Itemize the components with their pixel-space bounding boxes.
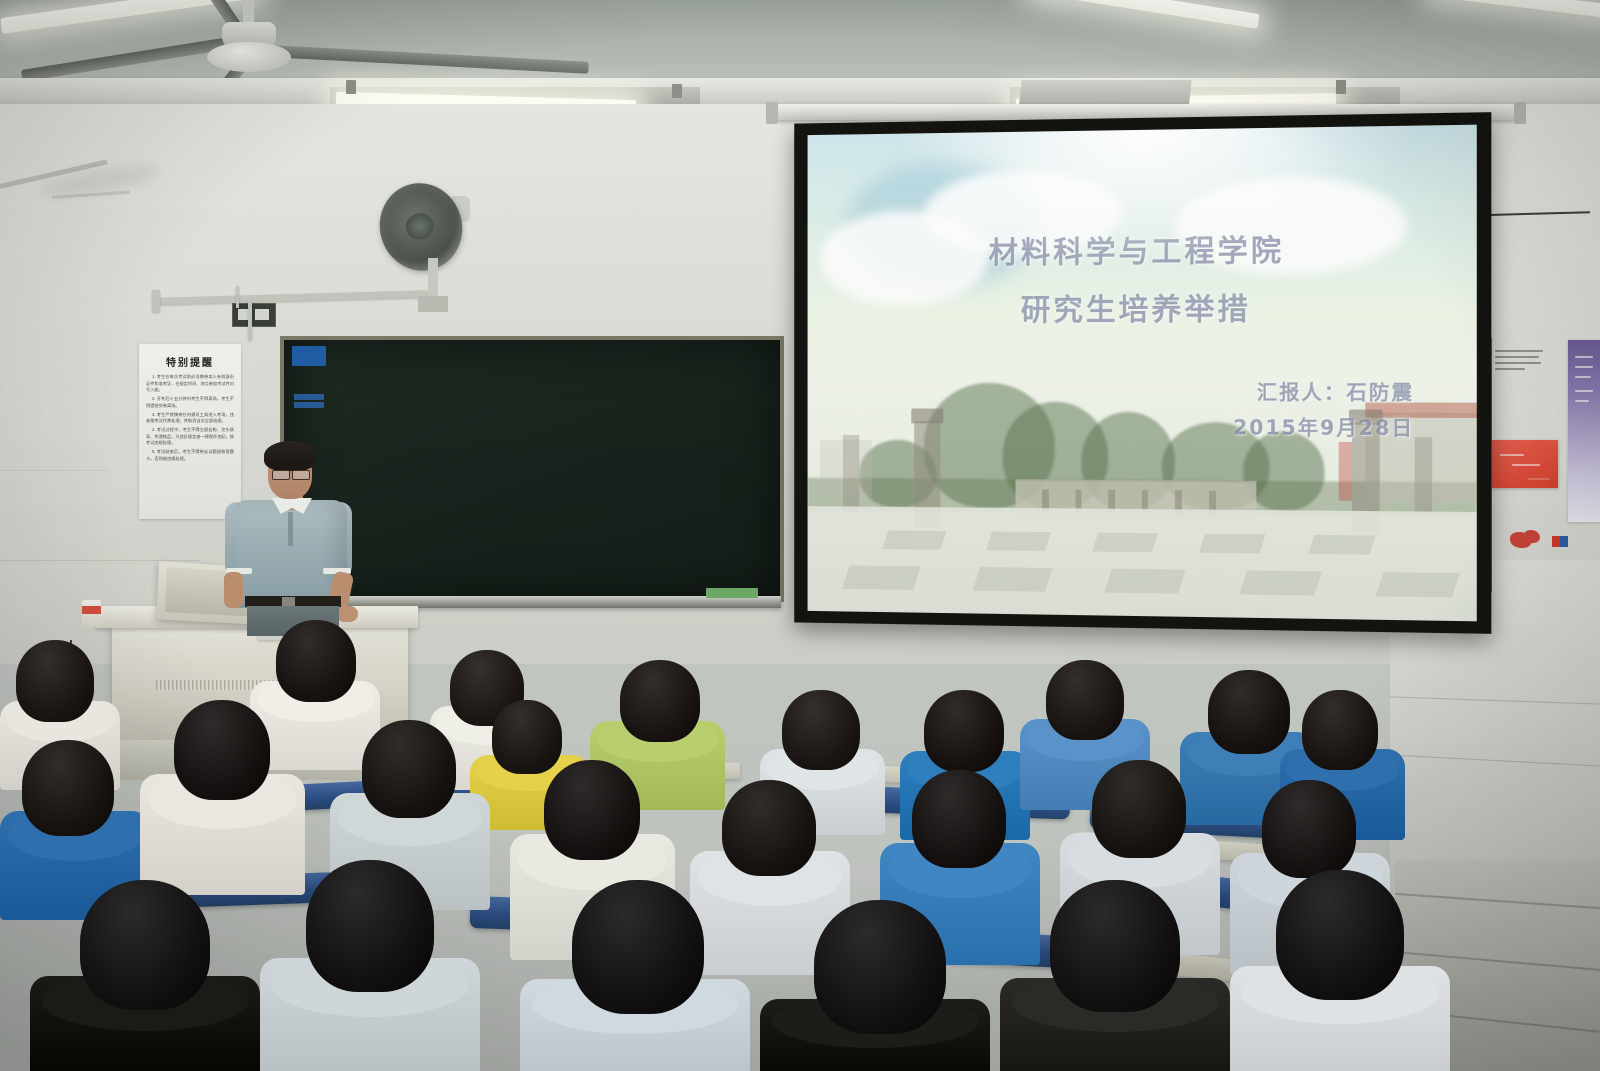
audience-head xyxy=(306,860,434,992)
poster-paragraph: 3. 考生严禁携带任何通讯工具进入考场，违者按考试作弊处理，并取消当次全部成绩。 xyxy=(146,412,234,425)
audience-head xyxy=(1046,660,1124,740)
glasses-icon xyxy=(272,470,290,480)
poster-paragraph: 5. 考试结束后，考生不得带走试题册和答题卡，否则按违规处理。 xyxy=(146,449,234,462)
audience-member xyxy=(30,880,260,1071)
wall-notice-poster: 特别提醒 1. 考生在每次考试前必须携带本人有效身份证件和准考证，在规定时间、地… xyxy=(139,344,241,519)
audience-head xyxy=(924,690,1004,772)
wall-fan-base xyxy=(418,296,448,312)
slide-title: 材料科学与工程学院 研究生培养举措 xyxy=(808,224,1477,330)
blackboard-notice-label xyxy=(294,394,324,400)
slide-banner xyxy=(1338,442,1352,501)
audience-head xyxy=(1050,880,1180,1012)
lecture-hall-photo: 特别提醒 1. 考生在每次考试前必须携带本人有效身份证件和准考证，在规定时间、地… xyxy=(0,0,1600,1071)
slide-pavement-tile xyxy=(1239,570,1322,595)
wall-seam xyxy=(0,470,110,471)
slide-presenter: 汇报人：石防震 xyxy=(1233,375,1414,411)
audience-head xyxy=(174,700,270,800)
audience-head xyxy=(80,880,210,1010)
slide-plaza-pavement xyxy=(808,506,1477,621)
slide-pavement-tile xyxy=(1092,532,1158,552)
slide-title-line-1: 材料科学与工程学院 xyxy=(989,234,1285,271)
audience-head xyxy=(782,690,860,770)
poster-text-line xyxy=(1512,464,1540,466)
wall-small-notice xyxy=(1495,350,1547,374)
screen-roller-end-left xyxy=(766,102,778,124)
audience-head xyxy=(1262,780,1356,878)
projected-slide: 材料科学与工程学院 研究生培养举措 汇报人：石防震 2015年9月28日 xyxy=(808,125,1477,622)
audience-member xyxy=(760,900,990,1071)
audience-member xyxy=(1000,880,1230,1071)
presenter-belt-buckle xyxy=(282,597,295,606)
audience-head xyxy=(1208,670,1290,754)
audience-head xyxy=(16,640,94,722)
poster-paragraph: 4. 考试过程中，考生不得左顾右盼、交头接耳、传递物品，凡违反规定者一律视作违纪… xyxy=(146,427,234,447)
audience-head xyxy=(620,660,700,742)
blackboard-notice-label xyxy=(294,402,324,408)
slide-gate-pillar xyxy=(843,435,860,511)
electrical-conduit-elbow xyxy=(152,290,160,312)
poster-paragraph: 2. 开考后十五分钟内考生不得离场，考生不得提前交卷离场。 xyxy=(146,396,234,409)
audience-head xyxy=(544,760,640,860)
light-bracket xyxy=(1336,80,1346,94)
notice-line xyxy=(1495,356,1539,358)
audience-member xyxy=(260,860,480,1071)
screen-roller-end-right xyxy=(1514,102,1526,124)
banner-text-line xyxy=(1575,356,1593,358)
sticker-shape xyxy=(1524,530,1540,543)
presenter-hair xyxy=(264,441,316,471)
notice-line xyxy=(1495,368,1525,370)
audience-head xyxy=(1276,870,1404,1000)
banner-text-line xyxy=(1575,400,1589,402)
audience-head xyxy=(22,740,114,836)
slide-pavement-tile xyxy=(842,565,921,589)
notice-line xyxy=(1495,362,1541,364)
audience-head xyxy=(1092,760,1186,858)
ceiling-fan-dome xyxy=(207,42,291,72)
slide-metadata: 汇报人：石防震 2015年9月28日 xyxy=(1233,375,1414,446)
notice-line xyxy=(1495,350,1543,352)
audience-head xyxy=(814,900,946,1034)
slide-pavement-tile xyxy=(882,530,947,550)
banner-text-line xyxy=(1575,376,1591,378)
slide-pavement-tile xyxy=(1199,533,1266,553)
slide-title-line-2: 研究生培养举措 xyxy=(808,283,1477,330)
slide-pavement-tile xyxy=(1104,569,1185,593)
cup-label xyxy=(82,606,101,614)
antenna-wire xyxy=(236,286,239,308)
audience-head xyxy=(722,780,816,876)
poster-body: 1. 考生在每次考试前必须携带本人有效身份证件和准考证，在规定时间、地点参加考试… xyxy=(146,374,234,462)
slide-date: 2015年9月28日 xyxy=(1233,411,1414,447)
audience-head xyxy=(572,880,704,1014)
slide-pillar-cap xyxy=(911,409,944,423)
glasses-icon xyxy=(292,470,310,480)
audience-head xyxy=(1302,690,1378,770)
red-notice-poster xyxy=(1492,440,1558,488)
fire-safety-sticker xyxy=(1508,528,1548,552)
blackboard-texture xyxy=(284,340,780,602)
blackboard-notice-icon xyxy=(292,346,326,366)
poster-text-line xyxy=(1528,478,1550,480)
presenter-placket xyxy=(288,512,293,546)
blackboard xyxy=(280,336,784,602)
slide-pavement-tile xyxy=(986,531,1051,551)
projection-screen: 材料科学与工程学院 研究生培养举措 汇报人：石防震 2015年9月28日 xyxy=(794,112,1491,634)
light-bracket xyxy=(672,84,682,98)
audience-member xyxy=(1230,870,1450,1071)
audience-head xyxy=(912,770,1006,868)
purple-wall-banner xyxy=(1568,340,1600,522)
audience-head xyxy=(276,620,356,702)
audience-member xyxy=(520,880,750,1071)
banner-text-line xyxy=(1575,366,1593,368)
slide-gate-pillar xyxy=(1414,437,1432,516)
chalk-eraser[interactable] xyxy=(706,588,758,598)
sticker-flag xyxy=(1552,536,1568,547)
presenter-arm-left xyxy=(224,572,243,608)
light-bracket xyxy=(346,80,356,94)
conduit-drop xyxy=(248,300,252,340)
junction-box-switch[interactable] xyxy=(255,309,269,320)
audience-head xyxy=(362,720,456,818)
poster-paragraph: 1. 考生在每次考试前必须携带本人有效身份证件和准考证，在规定时间、地点参加考试… xyxy=(146,374,234,394)
slide-pavement-tile xyxy=(1376,572,1460,597)
slide-pavement-tile xyxy=(1308,534,1376,554)
poster-title: 特别提醒 xyxy=(146,354,234,369)
poster-text-line xyxy=(1500,454,1524,456)
slide-pavement-tile xyxy=(972,567,1052,591)
banner-text-line xyxy=(1575,390,1593,392)
